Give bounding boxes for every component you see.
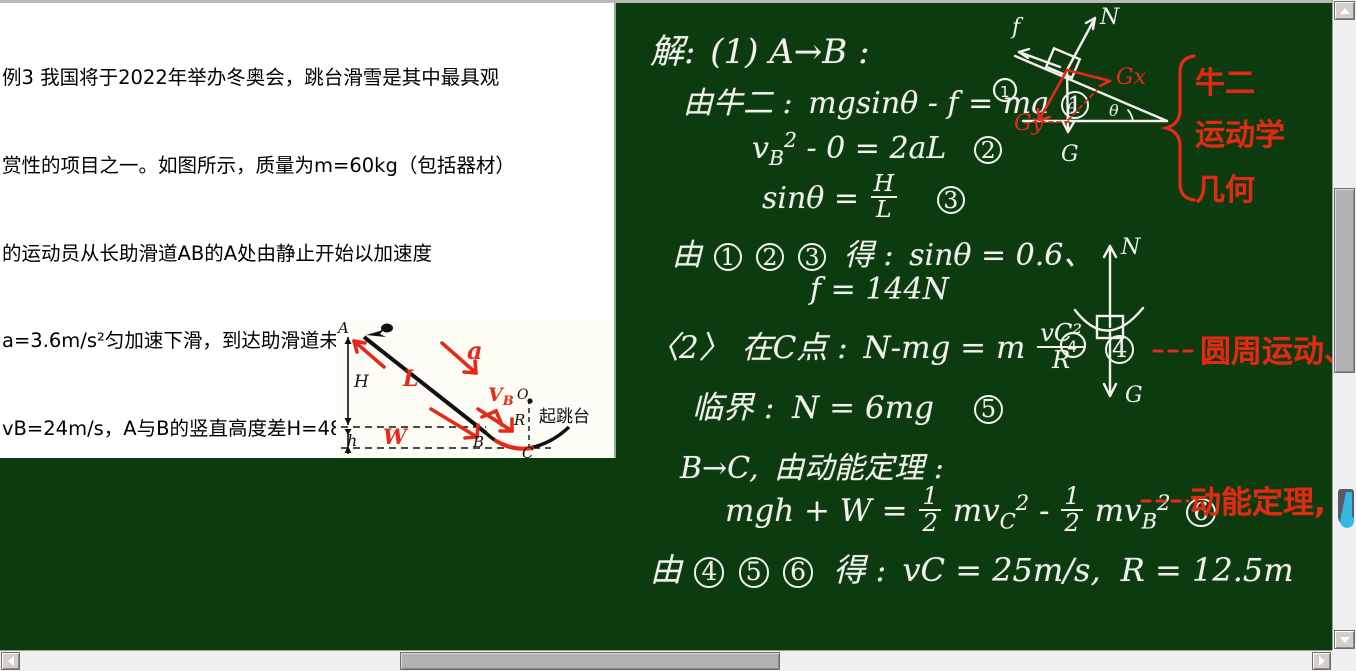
red-note-kinematics: 运动学 xyxy=(1195,110,1285,154)
fbd1-label-G: G xyxy=(1061,142,1079,167)
solution-line-8: 临界 : N = 6mg 5 xyxy=(692,382,1005,427)
critical-condition-label: 临界 : xyxy=(692,390,774,426)
scrollbar-corner xyxy=(1332,650,1356,671)
newton-law-label: 由牛二 : xyxy=(683,86,793,121)
equation-6-term-1-sup: 2 xyxy=(1016,490,1029,515)
horizontal-scroll-thumb[interactable] xyxy=(400,652,780,670)
red-note-newton: 牛二 xyxy=(1195,58,1255,102)
solution-line-11: 由 4 5 6 得 : vC = 25m/s, R = 12.5m xyxy=(650,545,1294,591)
equation-2-sub: B xyxy=(769,146,784,170)
derive-prefix-2: 由 xyxy=(650,551,682,589)
figure-label-platform: 起跳台 xyxy=(539,407,590,427)
arrow-down-icon xyxy=(1340,637,1350,643)
fbd1-equation-number: 1 xyxy=(1000,83,1010,101)
equation-3-denominator: L xyxy=(871,198,897,222)
scroll-right-button[interactable] xyxy=(1312,652,1331,670)
equation-6-minus: - xyxy=(1039,493,1049,529)
derive-verb-2: 得 : xyxy=(833,551,886,589)
solution-line-5: 由 1 2 3 得 : sinθ = 0.6、 xyxy=(672,230,1093,274)
figure-label-B: B xyxy=(472,433,484,451)
horizontal-scrollbar[interactable] xyxy=(0,650,1356,671)
problem-line-2: 的运动员从长助滑道AB的A处由静止开始以加速度 xyxy=(2,239,608,268)
solution-line-6: f = 144N xyxy=(810,272,949,307)
red-dash-circular xyxy=(1152,345,1202,357)
scroll-up-button[interactable] xyxy=(1334,1,1355,20)
solution-step-2: 〈2〉 xyxy=(648,330,730,366)
solution-line-9: B→C, 由动能定理 : xyxy=(680,443,944,487)
free-body-diagram-arc: N G 4 xyxy=(1045,232,1195,412)
equation-3-lhs: sinθ = xyxy=(762,181,859,216)
red-dash-energy xyxy=(1140,495,1192,507)
equation-2-sup: 2 xyxy=(784,128,797,152)
equation-2-rhs: - 0 = 2aL xyxy=(806,131,946,166)
blue-pointer-artifact xyxy=(1335,487,1355,532)
problem-line-1: 赏性的项目之一。如图所示，质量为m=60kg（包括器材） xyxy=(2,151,608,180)
equation-6-lhs: mgh + W = xyxy=(725,493,908,529)
arrow-up-icon xyxy=(1340,8,1350,14)
equation-6-half-2: 1 2 xyxy=(1061,484,1082,535)
scroll-down-button[interactable] xyxy=(1334,630,1355,649)
fbd1-label-theta-base: θ xyxy=(1109,101,1119,120)
fbd2-label-G: G xyxy=(1125,383,1143,408)
red-note-energy-theorem: 动能定理, xyxy=(1190,477,1326,522)
solution-line-4: sinθ = H L 3 xyxy=(762,175,967,225)
equation-number-3: 3 xyxy=(937,186,966,215)
ski-jump-figure: A H h B C O R L W a VB 起跳台 xyxy=(336,321,616,458)
figure-label-H: H xyxy=(353,372,370,392)
equation-4: N-mg = m xyxy=(863,330,1025,366)
solution-prefix: 解: xyxy=(650,32,695,72)
process-b-to-c: B→C, xyxy=(680,451,759,486)
fbd1-label-Gy: Gy xyxy=(1014,111,1045,136)
vertical-scroll-thumb[interactable] xyxy=(1334,188,1355,373)
figure-label-O: O xyxy=(517,387,529,403)
figure-label-L: L xyxy=(402,366,418,392)
solution-step-1: (1) A→B : xyxy=(710,32,869,72)
figure-label-A: A xyxy=(336,321,349,337)
result-vc: vC = 25m/s, xyxy=(902,551,1100,589)
result-radius: R = 12.5m xyxy=(1121,551,1294,589)
figure-label-R: R xyxy=(513,411,525,429)
equation-6-term-2-sub: B xyxy=(1142,508,1158,533)
red-note-geometry: 几何 xyxy=(1195,165,1255,209)
figure-label-a: a xyxy=(467,336,483,365)
problem-document-panel[interactable]: 例3 我国将于2022年举办冬奥会，跳台滑雪是其中最具观 赏性的项目之一。如图所… xyxy=(0,3,616,458)
equation-6-term-1: mv xyxy=(953,493,1000,529)
ref-number-3: 3 xyxy=(798,243,827,272)
vertical-scrollbar[interactable] xyxy=(1332,0,1356,650)
figure-label-C: C xyxy=(522,444,534,458)
ref-number-4: 4 xyxy=(694,557,724,587)
arrow-left-icon xyxy=(8,656,14,666)
ref-number-6: 6 xyxy=(783,557,813,587)
equation-6-num-1: 1 xyxy=(919,484,940,511)
equation-6-half-1: 1 2 xyxy=(919,484,940,535)
fbd1-label-theta-inner: θ xyxy=(1067,99,1077,118)
equation-3-fraction: H L xyxy=(871,172,897,222)
equation-6-term-2: mv xyxy=(1095,493,1142,529)
at-point-c-label: 在C点 : xyxy=(742,330,848,366)
result-friction: f = 144N xyxy=(810,272,949,307)
app-window: 例3 我国将于2022年举办冬奥会，跳台滑雪是其中最具观 赏性的项目之一。如图所… xyxy=(0,0,1356,671)
energy-theorem-label: 由动能定理 : xyxy=(774,451,944,486)
equation-6-den-2: 2 xyxy=(1061,511,1082,536)
scroll-left-button[interactable] xyxy=(1,652,20,670)
figure-label-W: W xyxy=(383,424,409,449)
fbd1-label-N: N xyxy=(1099,5,1120,30)
equation-number-2: 2 xyxy=(974,136,1003,165)
fbd1-label-f: f xyxy=(1010,15,1024,40)
problem-line-0: 例3 我国将于2022年举办冬奥会，跳台滑雪是其中最具观 xyxy=(2,63,608,92)
figure-label-h: h xyxy=(347,431,357,450)
solution-line-3: vB2 - 0 = 2aL 2 xyxy=(752,128,1004,170)
equation-2-lhs: v xyxy=(752,131,769,166)
solution-line-1: 解: (1) A→B : xyxy=(650,24,870,73)
equation-5: N = 6mg xyxy=(792,390,934,426)
fbd2-equation-number: 4 xyxy=(1067,337,1077,356)
ref-number-5: 5 xyxy=(739,557,769,587)
equation-6-num-2: 1 xyxy=(1061,484,1082,511)
arrow-right-icon xyxy=(1319,656,1325,666)
equation-number-5: 5 xyxy=(974,395,1003,424)
fbd2-label-N: N xyxy=(1120,235,1141,260)
ref-number-2: 2 xyxy=(756,243,785,272)
equation-6-term-1-sub: C xyxy=(1000,508,1016,533)
derive-verb-1: 得 : xyxy=(844,238,894,273)
ref-number-1: 1 xyxy=(714,243,743,272)
derive-prefix-1: 由 xyxy=(672,238,702,273)
equation-6-den-1: 2 xyxy=(919,511,940,536)
fbd1-label-Gx: Gx xyxy=(1116,65,1147,90)
